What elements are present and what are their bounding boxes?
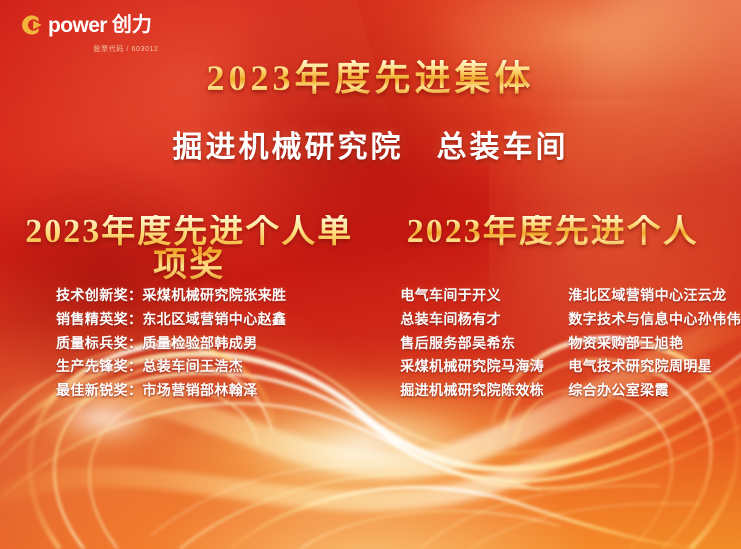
page-title: 2023年度先进集体: [0, 60, 741, 96]
list-item-col2: 综合办公室梁霞: [568, 380, 669, 404]
section-headings: 2023年度先进个人单项奖 2023年度先进个人: [0, 215, 741, 283]
logo-wordmark-en: power: [48, 15, 107, 36]
list-item: 最佳新锐奖：市场营销部林翰泽: [56, 380, 386, 404]
list-item-col2: 物资采购部王旭艳: [568, 333, 683, 357]
list-item: 质量标兵奖：质量检验部韩成男: [56, 333, 386, 357]
list-item-col2: 电气技术研究院周明星: [568, 356, 712, 380]
logo-wordmark-cn: 创力: [112, 15, 152, 35]
left-section-heading-wrap: 2023年度先进个人单项奖: [0, 215, 371, 283]
stock-code-label: 股票代码 / 603012: [18, 44, 208, 54]
list-item: 销售精英奖：东北区域营销中心赵鑫: [56, 309, 386, 333]
list-item-col1: 掘进机械研究院陈效栋: [400, 380, 568, 404]
list-item: 技术创新奖：采煤机械研究院张来胜: [56, 285, 386, 309]
list-item-col1: 总装车间杨有才: [400, 309, 568, 333]
left-award-list: 技术创新奖：采煤机械研究院张来胜 销售精英奖：东北区域营销中心赵鑫 质量标兵奖：…: [0, 285, 386, 404]
heading-individual-special-award: 2023年度先进个人单项奖: [0, 215, 371, 283]
right-section-heading-wrap: 2023年度先进个人: [371, 215, 741, 283]
list-item: 售后服务部吴希东 物资采购部王旭艳: [400, 333, 741, 357]
right-award-list: 电气车间于开义 淮北区域营销中心汪云龙 总装车间杨有才 数字技术与信息中心孙伟伟…: [386, 285, 741, 404]
award-lists: 技术创新奖：采煤机械研究院张来胜 销售精英奖：东北区域营销中心赵鑫 质量标兵奖：…: [0, 285, 741, 404]
list-item: 总装车间杨有才 数字技术与信息中心孙伟伟: [400, 309, 741, 333]
list-item: 生产先锋奖：总装车间王浩杰: [56, 356, 386, 380]
c-power-logo-icon: [18, 12, 44, 38]
list-item-col2: 数字技术与信息中心孙伟伟: [568, 309, 741, 333]
list-item: 掘进机械研究院陈效栋 综合办公室梁霞: [400, 380, 741, 404]
list-item: 电气车间于开义 淮北区域营销中心汪云龙: [400, 285, 741, 309]
list-item: 采煤机械研究院马海涛 电气技术研究院周明星: [400, 356, 741, 380]
poster-content: 2023年度先进集体 掘进机械研究院 总装车间 2023年度先进个人单项奖 20…: [0, 0, 741, 549]
heading-advanced-individual: 2023年度先进个人: [371, 215, 741, 249]
company-logo: power 创力 股票代码 / 603012: [18, 12, 208, 54]
page-subtitle: 掘进机械研究院 总装车间: [0, 133, 741, 163]
list-item-col2: 淮北区域营销中心汪云龙: [568, 285, 726, 309]
list-item-col1: 采煤机械研究院马海涛: [400, 356, 568, 380]
award-poster: power 创力 股票代码 / 603012 2023年度先进集体 掘进机械研究…: [0, 0, 741, 549]
list-item-col1: 售后服务部吴希东: [400, 333, 568, 357]
list-item-col1: 电气车间于开义: [400, 285, 568, 309]
